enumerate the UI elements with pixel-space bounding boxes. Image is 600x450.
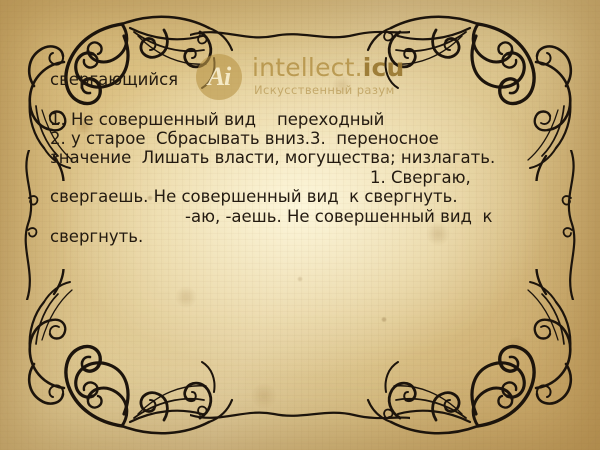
entry-line-6: -аю, -аешь. Не совершенный вид к	[185, 209, 492, 226]
entry-line-5: свергаешь. Не совершенный вид к свергнут…	[50, 189, 458, 206]
entry-line-2: 2. у старое Сбрасывать вниз.3. переносно…	[50, 131, 439, 148]
entry-line-4: 1. Свергаю,	[370, 170, 471, 187]
parchment-page: Ai intellect.icu Искусственный разум све…	[0, 0, 600, 450]
entry-line-7: свергнуть.	[50, 229, 143, 246]
entry-line-3: значение Лишать власти, могущества; низл…	[50, 150, 495, 167]
entry-line-1: 1. Не совершенный вид переходный	[50, 112, 384, 129]
dictionary-entry: свергающийся 1. Не совершенный вид перех…	[0, 0, 600, 450]
entry-headword: свергающийся	[50, 72, 178, 89]
